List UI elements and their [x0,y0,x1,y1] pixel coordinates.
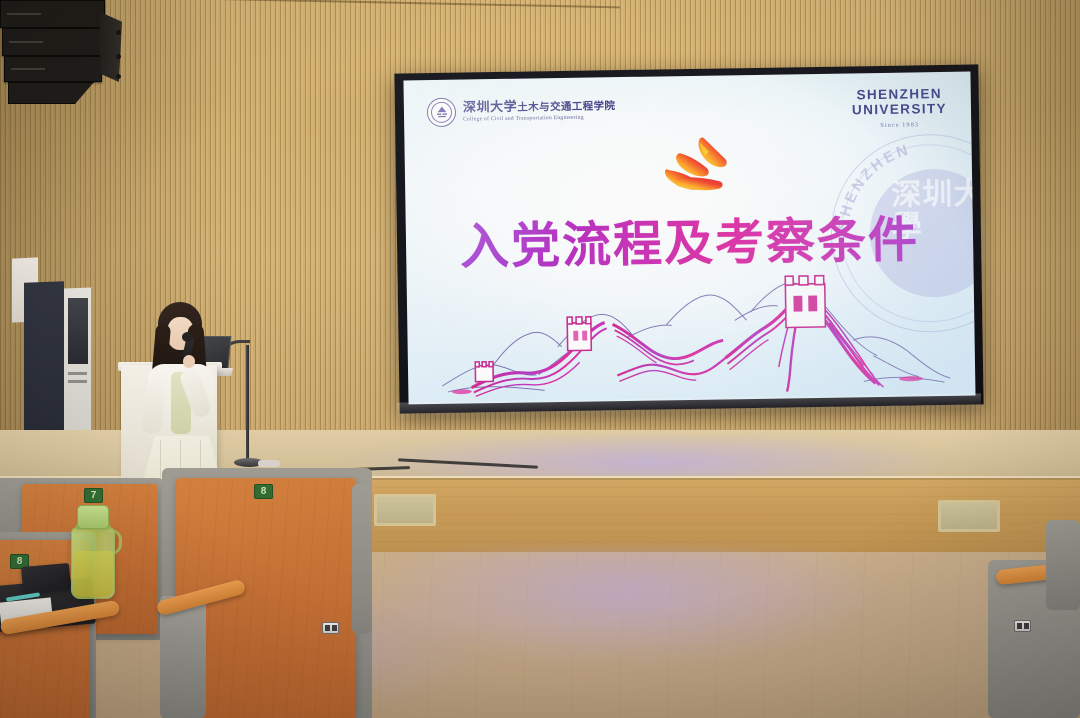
stage-vent-panel [938,500,1000,532]
auditorium-seat-partial[interactable] [352,484,372,634]
speaker-module-3 [4,56,102,82]
seal-inner-glyph [434,105,449,120]
presenter-hand [183,355,195,368]
college-name-en: College of Civil and Transportation Engi… [463,115,616,123]
wordmark-line1: SHENZHEN [852,86,947,103]
speaker-module-4 [8,82,94,104]
bottle-liquid [73,551,113,597]
slide-canvas: 深圳大學 SHENZHEN 深圳大学土木与交通工程学院 [403,72,975,405]
szu-college-seal-icon [427,98,456,127]
seat-control-panel[interactable] [1014,620,1031,632]
water-bottle[interactable] [68,505,118,600]
university-wordmark: SHENZHEN UNIVERSITY Since 1983 [852,86,948,129]
stage-vent-panel [374,494,436,526]
cabinet-screen-panel [68,298,88,364]
rigging-bolt [116,74,121,79]
microphone-head [182,332,193,342]
seat-control-panel[interactable] [322,622,339,634]
smartphone[interactable] [21,563,71,593]
seat-number-badge: 7 [84,488,103,503]
cabinet-slot [68,380,87,383]
great-wall-illustration [436,260,954,400]
college-logo-lockup: 深圳大学土木与交通工程学院 College of Civil and Trans… [427,95,616,127]
led-presentation-screen[interactable]: 深圳大學 SHENZHEN 深圳大学土木与交通工程学院 [394,64,983,413]
mic-stand-base-plate [258,460,280,467]
wordmark-since: Since 1983 [852,121,947,129]
wordmark-line2: UNIVERSITY [852,101,947,118]
cabinet-slot [68,372,87,375]
cpc-party-emblem-icon [655,135,740,198]
auditorium-seat-right-far[interactable] [1046,520,1080,610]
college-logo-text: 深圳大学土木与交通工程学院 College of Civil and Trans… [463,99,616,122]
speaker-module-1 [0,0,105,28]
ceiling-line-array-speakers [0,0,120,105]
rigging-bolt [116,54,121,59]
auditorium-scene: 深圳大學 SHENZHEN 深圳大学土木与交通工程学院 [0,0,1080,718]
speaker-module-2 [2,28,104,56]
rigging-bolt [116,30,121,35]
speaker-rigging-frame [100,12,122,82]
microphone-stand[interactable] [246,345,249,463]
bottle-cap [77,505,109,529]
seat-number-badge: 8 [254,484,273,499]
college-name-cn: 深圳大学土木与交通工程学院 [463,99,616,114]
